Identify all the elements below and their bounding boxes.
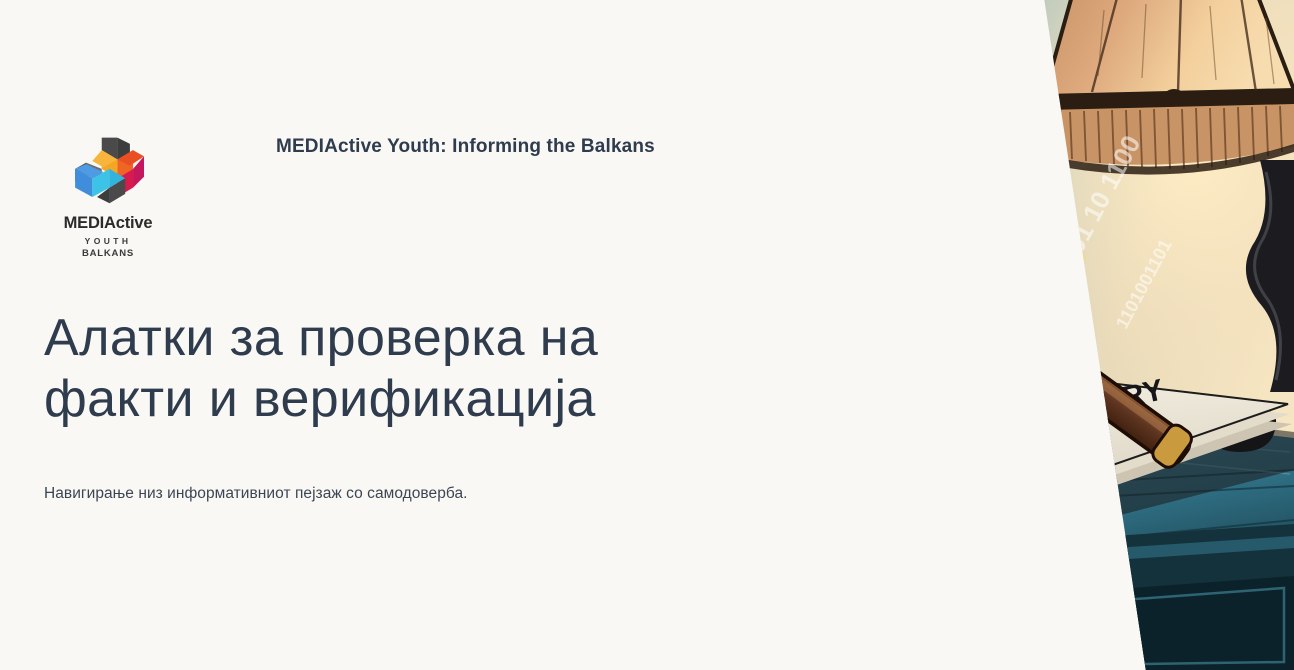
page-title: Алатки за проверка на факти и верификаци… — [44, 308, 724, 431]
svg-text:1100110101: 1100110101 — [961, 367, 1050, 402]
svg-text:0101000: 0101000 — [774, 305, 895, 368]
logo-wordmark: MEDIActive — [38, 214, 178, 232]
svg-text:11010010110100101101001011010: 11010010110100101101001011010 — [799, 66, 991, 89]
slide-root: MEDIActive YOUTH BALKANS MEDIActive Yout… — [0, 0, 1294, 670]
svg-text:0101101: 0101101 — [778, 142, 821, 170]
logo-cube-icon — [68, 136, 148, 208]
page-title-line-2: факти и верификација — [44, 369, 724, 430]
fact-checking-desk-illustration-svg: 10110101101011010110101101011 0101101001… — [774, 0, 1294, 670]
svg-text:1010010: 1010010 — [790, 170, 833, 198]
page-subtitle: Навигирање низ информативниот пејзаж со … — [44, 485, 704, 503]
project-title: MEDIActive Youth: Informing the Balkans — [276, 136, 655, 158]
page-title-line-1: Алатки за проверка на — [44, 309, 598, 367]
svg-text:1011010010110100101101: 1011010010110100101101 — [836, 114, 982, 140]
logo-line-balkans: BALKANS — [38, 248, 178, 259]
svg-text:010110100101101001011010010110: 0101101001011010010110100101101 — [791, 35, 997, 69]
hero-illustration-canvas: 10110101101011010110101101011 0101101001… — [774, 0, 1294, 670]
svg-text:01011010010110100: 01011010010110100 — [866, 130, 979, 160]
svg-text:101 10 1100: 101 10 1100 — [918, 257, 1086, 329]
svg-text:01011011010101101: 01011011010101101 — [932, 229, 1081, 272]
hero-illustration: 10110101101011010110101101011 0101101001… — [774, 0, 1294, 670]
svg-text:10110101101011010110101101011: 10110101101011010110101101011 — [802, 8, 994, 51]
logo-line-youth: YOUTH — [38, 236, 178, 246]
brand-logo[interactable]: MEDIActive YOUTH BALKANS — [38, 136, 178, 259]
svg-text:010110100101101001011010010: 010110100101101001011010010 — [814, 96, 993, 112]
